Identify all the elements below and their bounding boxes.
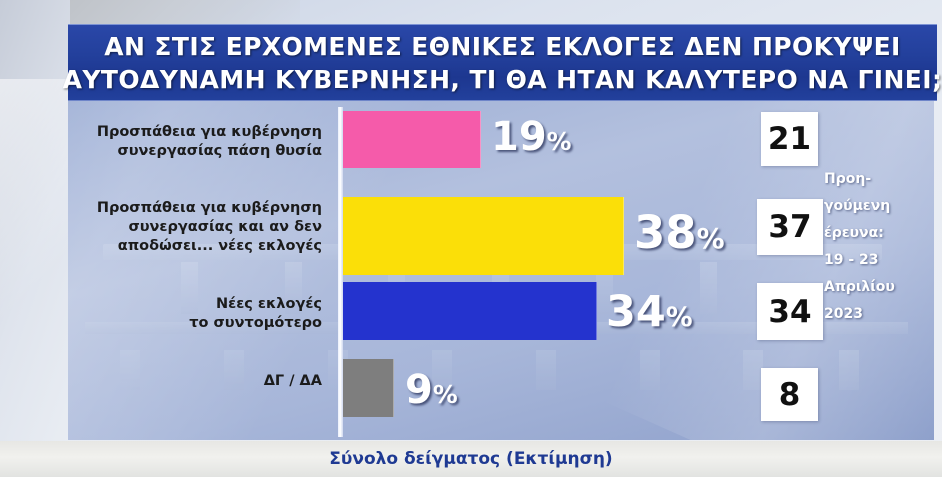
bar-value: 19% bbox=[491, 114, 572, 160]
bar-row-label: Νέες εκλογές το συντομότερο bbox=[72, 295, 322, 333]
value-axis-line bbox=[338, 107, 343, 437]
bar-row-label: ΔΓ / ΔΑ bbox=[72, 372, 322, 391]
poll-graphic: Προσπάθεια για κυβέρνηση συνεργασίας πάσ… bbox=[0, 0, 942, 477]
previous-survey-note: Προη- γούμενη έρευνα: 19 - 23 Απριλίου 2… bbox=[824, 166, 932, 328]
footer-caption: Σύνολο δείγματος (Εκτίμηση) bbox=[0, 449, 942, 469]
title-banner: ΑΝ ΣΤΙΣ ΕΡΧΟΜΕΝΕΣ ΕΘΝΙΚΕΣ ΕΚΛΟΓΕΣ ΔΕΝ ΠΡ… bbox=[68, 24, 937, 101]
bar-value: 34% bbox=[606, 287, 693, 337]
title-line-2: ΑΥΤΟΔΥΝΑΜΗ ΚΥΒΕΡΝΗΣΗ, ΤΙ ΘΑ ΗΤΑΝ ΚΑΛΥΤΕΡ… bbox=[63, 63, 942, 96]
previous-value-box: 21 bbox=[761, 112, 818, 166]
previous-value-box: 37 bbox=[757, 199, 823, 255]
bar-fill bbox=[343, 359, 394, 417]
bar-fill bbox=[343, 111, 481, 168]
bar-fill bbox=[343, 197, 624, 275]
bar-row-label: Προσπάθεια για κυβέρνηση συνεργασίας πάσ… bbox=[72, 123, 322, 161]
bar-fill bbox=[343, 282, 597, 340]
left-rail bbox=[0, 0, 70, 441]
title-line-1: ΑΝ ΣΤΙΣ ΕΡΧΟΜΕΝΕΣ ΕΘΝΙΚΕΣ ΕΚΛΟΓΕΣ ΔΕΝ ΠΡ… bbox=[104, 30, 901, 63]
previous-value-box: 8 bbox=[761, 368, 818, 421]
bar-row-label: Προσπάθεια για κυβέρνηση συνεργασίας και… bbox=[72, 199, 322, 256]
previous-value-box: 34 bbox=[757, 283, 823, 340]
bar-value: 9% bbox=[405, 367, 458, 413]
bar-value: 38% bbox=[634, 206, 725, 259]
